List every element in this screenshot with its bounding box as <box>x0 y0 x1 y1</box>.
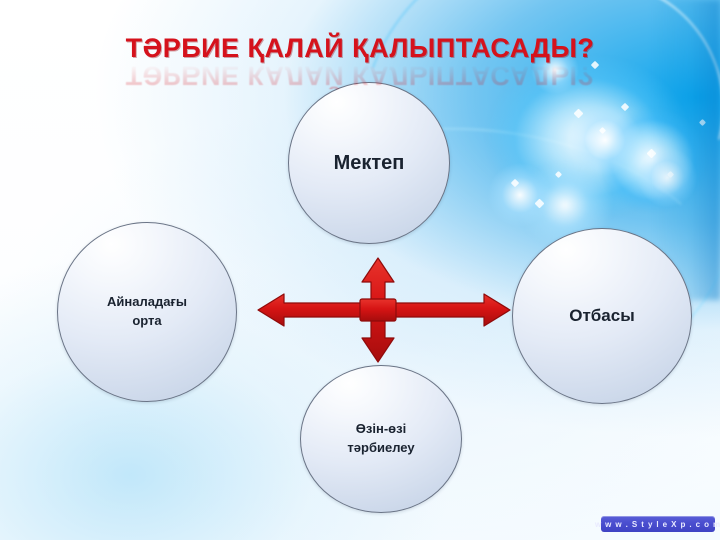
sparkle-flake <box>667 171 674 178</box>
sparkle-cluster-2 <box>480 155 560 235</box>
diagram-node-family-label: Отбасы <box>559 304 644 329</box>
sparkle-flake <box>621 103 629 111</box>
diagram-node-self-education[interactable]: Өзін-өзі тәрбиелеу <box>300 365 462 513</box>
arrow-center-hub <box>360 299 396 321</box>
slide-title-block: ТӘРБИЕ ҚАЛАЙ ҚАЛЫПТАСАДЫ? ТӘРБИЕ ҚАЛАЙ Қ… <box>0 34 720 90</box>
diagram-node-family[interactable]: Отбасы <box>512 228 692 404</box>
diagram-node-environment-label: Айналадағы орта <box>97 293 197 331</box>
slide-title: ТӘРБИЕ ҚАЛАЙ ҚАЛЫПТАСАДЫ? <box>0 34 720 62</box>
slide-canvas: ТӘРБИЕ ҚАЛАЙ ҚАЛЫПТАСАДЫ? ТӘРБИЕ ҚАЛАЙ Қ… <box>0 0 720 540</box>
watermark-badge: w w w . S t y l e X p . c o m <box>601 516 715 532</box>
diagram-node-school-label: Мектеп <box>324 149 415 178</box>
sparkle-flake <box>535 199 545 209</box>
sparkle-flake <box>647 149 657 159</box>
background-glow-core-b <box>585 95 720 225</box>
sparkle-cluster-3 <box>630 140 705 215</box>
watermark-text: w w w . S t y l e X p . c o m <box>595 520 720 529</box>
diagram-node-self-education-label: Өзін-өзі тәрбиелеу <box>337 420 424 458</box>
sparkle-flake <box>511 179 519 187</box>
four-way-arrow-icon[interactable] <box>250 252 518 368</box>
sparkle-flake <box>574 109 584 119</box>
sparkle-flake <box>555 171 562 178</box>
sparkle-flake <box>599 127 606 134</box>
slide-title-reflection: ТӘРБИЕ ҚАЛАЙ ҚАЛЫПТАСАДЫ? <box>0 61 720 89</box>
diagram-node-school[interactable]: Мектеп <box>288 82 450 244</box>
sparkle-flake <box>699 119 706 126</box>
diagram-node-environment[interactable]: Айналадағы орта <box>57 222 237 402</box>
sparkle-cluster-1 <box>560 95 650 185</box>
